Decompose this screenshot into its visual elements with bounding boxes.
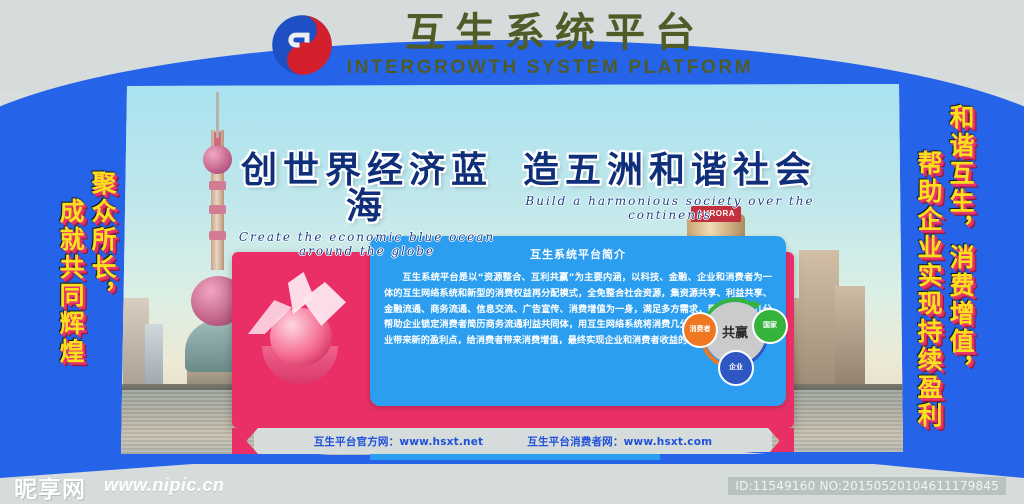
slogan-right-secondary: 帮助企业实现持续盈利 [910,150,946,430]
globe-in-hands-sculpture-icon [240,264,368,386]
watermark-right-wedge [744,452,1024,478]
poster-canvas: 互生系统平台 INTERGROWTH SYSTEM PLATFORM 聚众所长，… [0,0,1024,504]
link-consumer-site[interactable]: 互生平台消费者网：www.hsxt.com [527,434,712,449]
intro-card: 互生系统平台简介 互生系统平台是以“资源整合、互利共赢”为主要内涵，以科技、金融… [232,252,794,428]
links-ribbon: 互生平台官方网：www.hsxt.net 互生平台消费者网：www.hsxt.c… [232,428,794,460]
win-win-diagram: 共赢 消费者 国家 企业 [682,288,788,386]
header-title-block: 互生系统平台 INTERGROWTH SYSTEM PLATFORM [347,13,754,77]
win-win-node-consumer: 消费者 [682,312,718,348]
poster-header: 互生系统平台 INTERGROWTH SYSTEM PLATFORM [0,4,1024,86]
slogan-left-primary: 聚众所长， [84,170,120,310]
calligraphy-right-en: Build a harmonious society over the cont… [520,194,820,222]
page-title-en: INTERGROWTH SYSTEM PLATFORM [347,58,754,77]
calligraphy-right-cn: 造五洲和谐社会 [520,152,820,188]
background-building [835,286,865,390]
nipic-logo: 昵享网 [14,470,86,504]
tower-antenna [216,92,219,138]
nipic-url[interactable]: www.nipic.cn [104,475,224,496]
asset-id-label: ID:11549160 NO:20150520104611179845 [728,477,1006,495]
calligraphy-left-en: Create the economic blue ocean around th… [222,230,512,258]
calligraphy-left: 创世界经济蓝海 Create the economic blue ocean a… [222,152,512,258]
link-official-site[interactable]: 互生平台官方网：www.hsxt.net [314,434,484,449]
ribbon-links: 互生平台官方网：www.hsxt.net 互生平台消费者网：www.hsxt.c… [232,428,794,454]
background-building [799,250,839,390]
win-win-node-country: 国家 [752,308,788,344]
slogan-right-primary: 和谐互生，消费增值， [942,104,978,384]
calligraphy-right: 造五洲和谐社会 Build a harmonious society over … [520,152,820,222]
slogan-left-secondary: 成就共同辉煌 [52,198,88,366]
page-title-cn: 互生系统平台 [395,13,705,53]
yin-yang-g-logo-icon [271,14,333,76]
win-win-node-company: 企业 [718,350,754,386]
ribbon-shadow [370,454,660,460]
watermark-bar: 昵享网 www.nipic.cn ID:11549160 NO:20150520… [0,464,1024,504]
calligraphy-left-cn: 创世界经济蓝海 [222,152,512,224]
background-building [145,324,163,390]
